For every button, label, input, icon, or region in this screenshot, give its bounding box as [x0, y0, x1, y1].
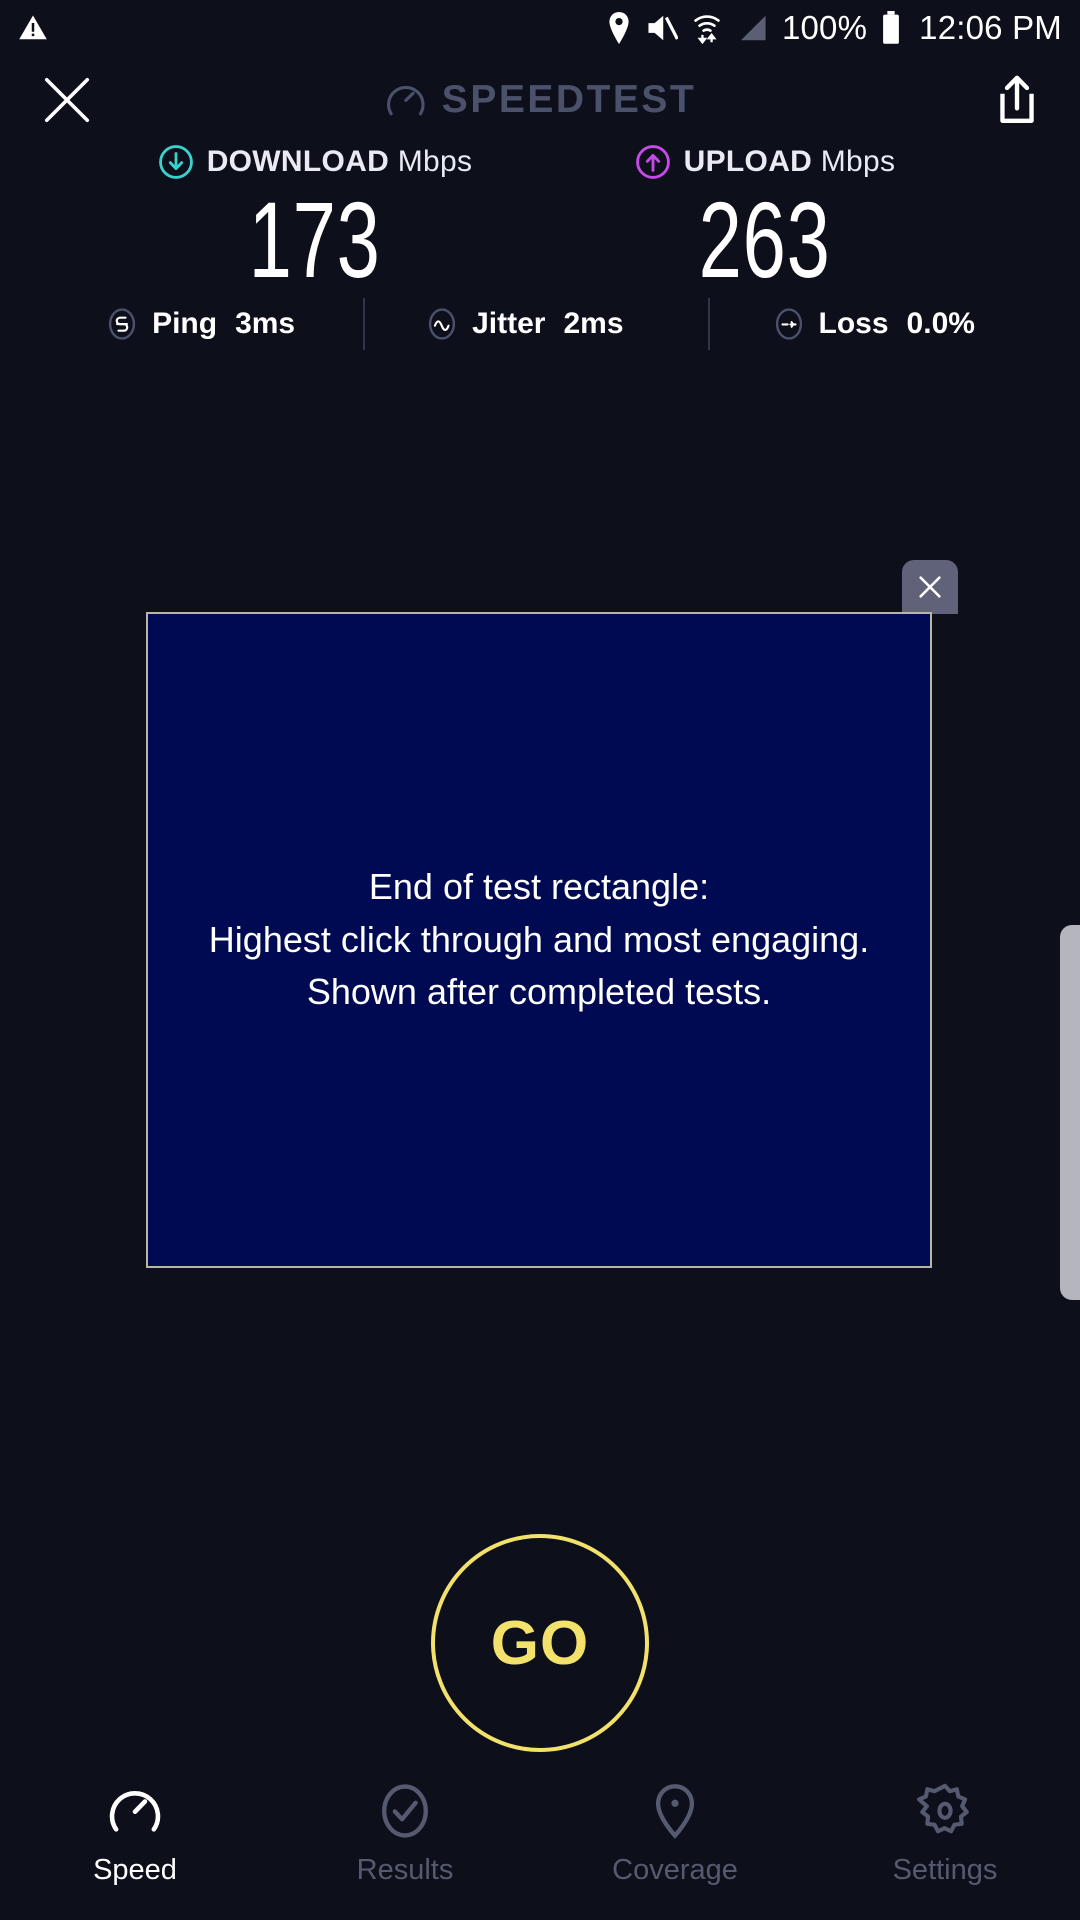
metric-jitter: Jitter 2ms	[425, 307, 623, 341]
advertisement-banner[interactable]: End of test rectangle: Highest click thr…	[146, 612, 932, 1268]
ad-close-button[interactable]	[902, 560, 958, 614]
ping-label: Ping	[152, 307, 217, 341]
battery-icon	[881, 11, 901, 45]
upload-value: 263	[699, 186, 831, 294]
upload-label: UPLOAD Mbps	[684, 145, 896, 179]
gear-icon	[916, 1782, 974, 1840]
metric-loss: Loss 0.0%	[772, 307, 975, 341]
ad-line-3: Shown after completed tests.	[209, 966, 869, 1019]
download-header: DOWNLOAD Mbps	[158, 144, 473, 180]
loss-label: Loss	[819, 307, 889, 341]
status-bar-left-icons	[18, 13, 48, 43]
nav-label-settings: Settings	[893, 1854, 998, 1887]
download-label: DOWNLOAD Mbps	[207, 145, 473, 179]
status-bar-right-icons: 100% 12:06 PM	[606, 9, 1062, 47]
nav-item-speed[interactable]: Speed	[0, 1782, 270, 1887]
upload-header: UPLOAD Mbps	[635, 144, 896, 180]
ping-icon	[105, 307, 139, 341]
download-result: DOWNLOAD Mbps 173	[145, 144, 485, 294]
ad-line-1: End of test rectangle:	[209, 861, 869, 914]
jitter-value: 2ms	[563, 307, 623, 341]
go-button-label: GO	[491, 1608, 589, 1679]
vertical-scrollbar[interactable]	[1060, 925, 1080, 1300]
ping-value: 3ms	[235, 307, 295, 341]
nav-label-results: Results	[357, 1854, 454, 1887]
nav-item-settings[interactable]: Settings	[810, 1782, 1080, 1887]
app-header: SPEEDTEST	[0, 56, 1080, 144]
metric-divider	[708, 298, 710, 350]
download-arrow-icon	[158, 144, 194, 180]
jitter-icon	[425, 307, 459, 341]
share-icon[interactable]	[994, 73, 1040, 127]
wifi-transfer-icon	[692, 12, 722, 44]
speed-values-row: DOWNLOAD Mbps 173 UPLOAD Mbps 263	[0, 144, 1080, 294]
advertisement-container: End of test rectangle: Highest click thr…	[146, 612, 932, 1268]
nav-item-coverage[interactable]: Coverage	[540, 1782, 810, 1887]
speedometer-icon	[106, 1782, 164, 1840]
status-bar: 100% 12:06 PM	[0, 0, 1080, 56]
upload-result: UPLOAD Mbps 263	[595, 144, 935, 294]
ad-text-block: End of test rectangle: Highest click thr…	[189, 861, 889, 1019]
results-panel: DOWNLOAD Mbps 173 UPLOAD Mbps 263	[0, 144, 1080, 294]
bottom-navigation: Speed Results Coverage Settings	[0, 1770, 1080, 1920]
ad-close-icon	[915, 572, 945, 602]
upload-arrow-icon	[635, 144, 671, 180]
metrics-row: Ping 3ms Jitter 2ms Loss 0.0%	[0, 298, 1080, 350]
go-button[interactable]: GO	[431, 1534, 649, 1752]
jitter-label: Jitter	[472, 307, 545, 341]
metric-divider	[363, 298, 365, 350]
ad-line-2: Highest click through and most engaging.	[209, 914, 869, 967]
mute-icon	[646, 13, 678, 43]
clock-label: 12:06 PM	[919, 9, 1062, 47]
check-circle-icon	[376, 1782, 434, 1840]
nav-item-results[interactable]: Results	[270, 1782, 540, 1887]
brand-logo: SPEEDTEST	[384, 78, 696, 122]
download-value: 173	[249, 186, 381, 294]
speedtest-app-screen: 100% 12:06 PM SPEEDTEST	[0, 0, 1080, 1920]
nav-label-speed: Speed	[93, 1854, 177, 1887]
brand-name-label: SPEEDTEST	[442, 78, 696, 122]
loss-icon	[772, 307, 806, 341]
metric-ping: Ping 3ms	[105, 307, 295, 341]
nav-label-coverage: Coverage	[612, 1854, 738, 1887]
loss-value: 0.0%	[907, 307, 975, 341]
warning-triangle-icon	[18, 13, 48, 43]
cell-signal-icon	[736, 13, 768, 43]
speedometer-logo-icon	[384, 78, 428, 122]
close-icon[interactable]	[40, 73, 94, 127]
location-pin-icon	[606, 12, 632, 44]
map-pin-icon	[646, 1782, 704, 1840]
battery-percent-label: 100%	[782, 9, 867, 47]
